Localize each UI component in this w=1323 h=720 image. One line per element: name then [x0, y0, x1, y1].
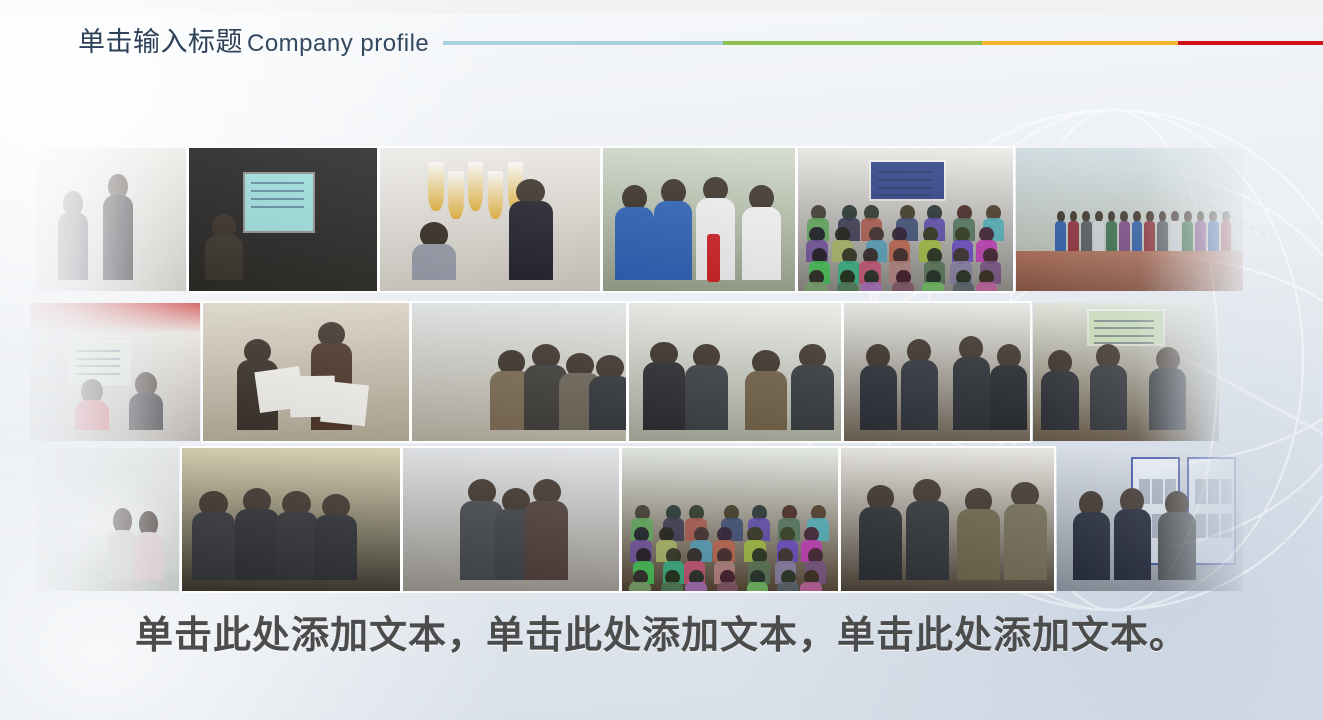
rule-segment-green	[723, 41, 982, 45]
photo-scene	[1033, 303, 1219, 441]
photo-scene	[36, 148, 186, 291]
photo-conference-projector[interactable]	[189, 148, 377, 291]
photo-police-poster-board[interactable]	[1057, 448, 1243, 591]
photo-scene	[622, 448, 838, 591]
photo-document-handout[interactable]	[841, 448, 1054, 591]
photo-scene	[841, 448, 1054, 591]
photo-scene	[403, 448, 619, 591]
photo-scene	[603, 148, 795, 291]
page-title: 单击输入标题Company profile	[78, 20, 429, 59]
photo-safety-lecture-hall[interactable]	[798, 148, 1013, 291]
rule-segment-blue	[443, 41, 723, 45]
photo-training-banner-room[interactable]	[30, 303, 200, 441]
photo-scene	[203, 303, 409, 441]
photo-toast-celebration[interactable]	[380, 148, 600, 291]
photo-meeting-documents[interactable]	[36, 148, 186, 291]
photo-scene	[798, 148, 1013, 291]
photo-wall-display-group[interactable]	[629, 303, 841, 441]
photo-reviewing-papers[interactable]	[203, 303, 409, 441]
slide-canvas: 单击输入标题Company profile 单击此处添加文本，单击此处添加文本，…	[0, 0, 1323, 720]
photo-corridor-briefing[interactable]	[412, 303, 626, 441]
photo-scene	[182, 448, 400, 591]
title-accent-rule	[443, 41, 1323, 45]
photo-scene	[844, 303, 1030, 441]
photo-scene	[1057, 448, 1243, 591]
photo-meeting-room-desks[interactable]	[1033, 303, 1219, 441]
photo-office-laptops[interactable]	[844, 303, 1030, 441]
photo-scene	[189, 148, 377, 291]
page-title-cn: 单击输入标题	[78, 27, 243, 57]
rule-segment-yellow	[982, 41, 1178, 45]
photo-scene	[380, 148, 600, 291]
photo-fire-drill-smoke[interactable]	[36, 448, 179, 591]
photo-outdoor-assembly[interactable]	[1016, 148, 1243, 291]
photo-scene	[412, 303, 626, 441]
body-caption: 单击此处添加文本，单击此处添加文本，单击此处添加文本。	[0, 604, 1323, 659]
slide-header: 单击输入标题Company profile	[0, 0, 1323, 78]
photo-scene	[36, 448, 179, 591]
photo-site-walkthrough[interactable]	[403, 448, 619, 591]
photo-classroom-training[interactable]	[622, 448, 838, 591]
collage-row-2	[0, 303, 1323, 443]
page-title-en: Company profile	[243, 30, 429, 57]
photo-collage	[0, 148, 1323, 594]
photo-scene	[629, 303, 841, 441]
photo-fire-extinguisher-drill[interactable]	[603, 148, 795, 291]
rule-segment-red	[1178, 41, 1323, 45]
photo-equipment-inspection[interactable]	[182, 448, 400, 591]
photo-scene	[1016, 148, 1243, 291]
collage-row-3	[0, 448, 1323, 594]
collage-row-1	[0, 148, 1323, 296]
photo-scene	[30, 303, 200, 441]
